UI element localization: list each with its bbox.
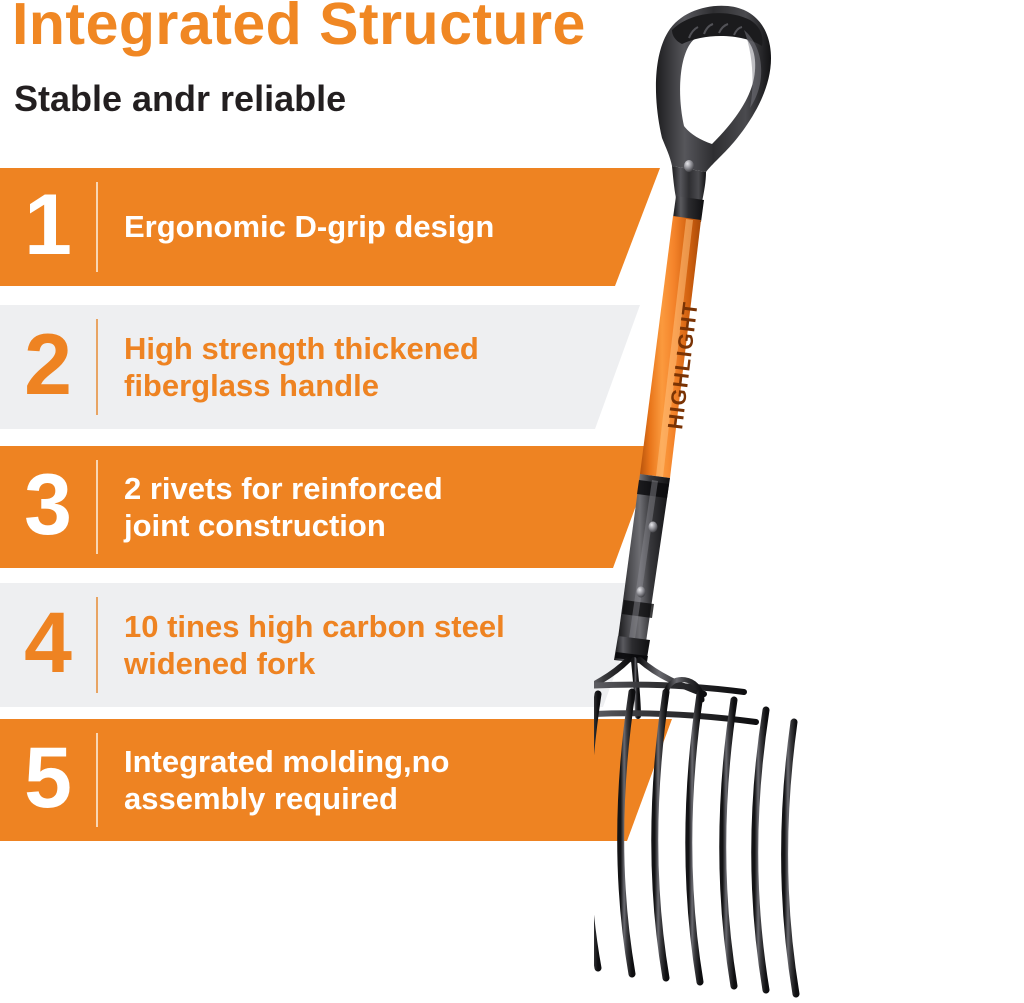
feature-number-2: 2 [0, 322, 96, 412]
grip-inner-opening [680, 29, 755, 144]
feature-text-line: Ergonomic D-grip design [124, 208, 650, 245]
tine-7 [689, 694, 700, 982]
grip-outer-shell [656, 6, 771, 172]
feature-text-line: Integrated molding,no [124, 743, 662, 780]
d-grip-handle [656, 6, 771, 202]
feature-banner-4: 4 10 tines high carbon steel widened for… [0, 583, 648, 707]
feature-text-line: High strength thickened [124, 330, 630, 367]
feature-text-5: Integrated molding,no assembly required [98, 743, 672, 817]
page-title: Integrated Structure [12, 0, 586, 56]
feature-text-line: 2 rivets for reinforced [124, 470, 648, 507]
product-image-pitchfork: HIGHLIGHT [594, 0, 1024, 1003]
grip-highlight [744, 30, 761, 108]
feature-text-line: widened fork [124, 645, 638, 682]
page-subtitle: Stable andr reliable [14, 80, 346, 118]
feature-text-line: assembly required [124, 780, 662, 817]
feature-banner-2: 2 High strength thickened fiberglass han… [0, 305, 640, 429]
feature-number-4: 4 [0, 600, 96, 690]
feature-number-5: 5 [0, 735, 96, 825]
feature-text-line: joint construction [124, 507, 648, 544]
tine-10 [785, 722, 797, 994]
feature-banner-1: 1 Ergonomic D-grip design [0, 168, 660, 286]
feature-number-1: 1 [0, 182, 96, 272]
feature-text-3: 2 rivets for reinforced joint constructi… [98, 470, 658, 544]
feature-number-3: 3 [0, 462, 96, 552]
grip-neck [672, 166, 706, 202]
feature-text-4: 10 tines high carbon steel widened fork [98, 608, 648, 682]
tine-9 [755, 710, 766, 990]
grip-rivet-icon [684, 160, 694, 172]
brand-text: HIGHLIGHT [664, 300, 703, 431]
grip-groove-lines [689, 24, 742, 38]
feature-text-1: Ergonomic D-grip design [98, 208, 660, 245]
shaft-highlight [656, 219, 693, 477]
feature-text-2: High strength thickened fiberglass handl… [98, 330, 640, 404]
tine-8 [723, 700, 734, 986]
feature-banner-5: 5 Integrated molding,no assembly require… [0, 719, 672, 841]
feature-banner-3: 3 2 rivets for reinforced joint construc… [0, 446, 658, 568]
feature-text-line: 10 tines high carbon steel [124, 608, 638, 645]
grip-finger-grooves [672, 13, 763, 46]
feature-text-line: fiberglass handle [124, 367, 630, 404]
upper-collar [673, 196, 704, 222]
